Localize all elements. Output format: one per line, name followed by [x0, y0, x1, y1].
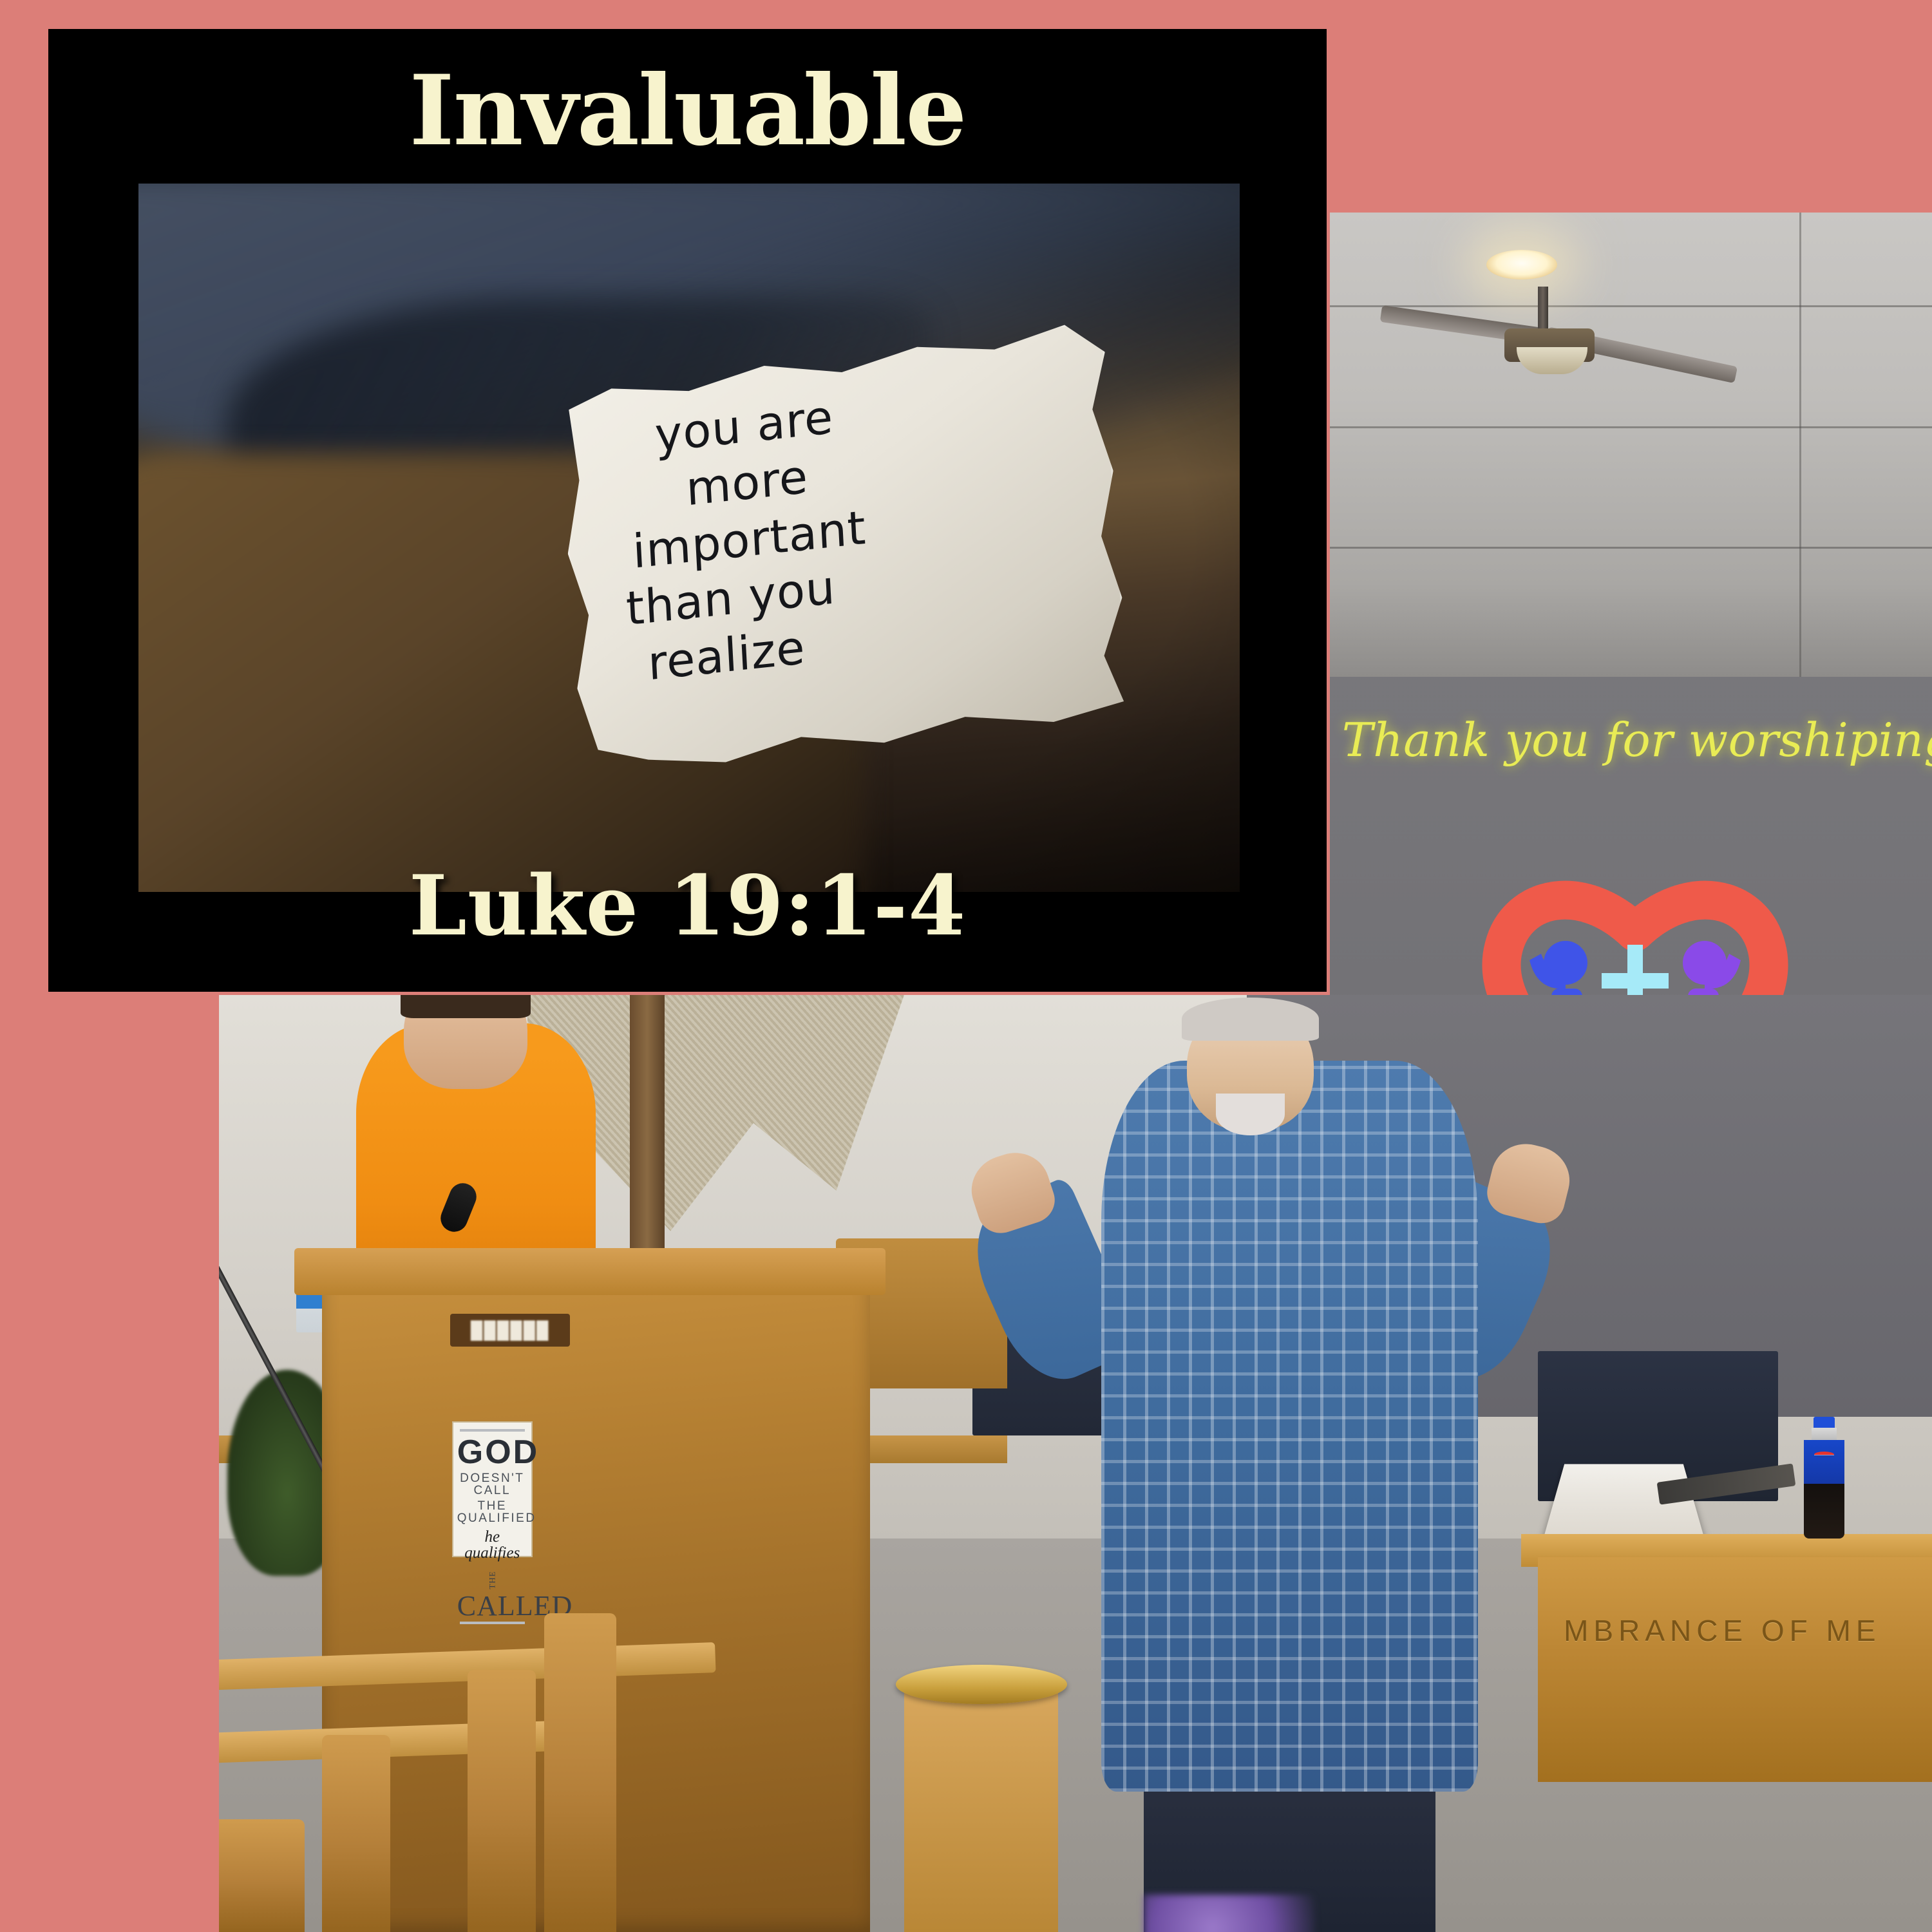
purple-flowers — [1144, 1895, 1315, 1932]
pulpit-sign: GOD DOESN'T CALL THE QUALIFIED he qualif… — [452, 1421, 533, 1557]
recessed-light-icon — [1486, 250, 1557, 279]
scripture-reference: Luke 19:1-4 — [48, 858, 1327, 954]
offering-stool — [904, 1689, 1058, 1932]
man-at-pulpit-hair — [401, 995, 531, 1018]
sign-divider-bottom — [460, 1622, 525, 1624]
preacher-beard — [1216, 1094, 1284, 1135]
pepsi-neck — [1812, 1428, 1836, 1440]
sign-line-he-qualifies: he qualifies — [457, 1529, 527, 1561]
sign-line-god: GOD — [457, 1435, 527, 1469]
torn-paper-note: you are more important than you realize — [556, 320, 1131, 784]
photo-collage: Invaluable you are more important than y… — [0, 0, 1932, 1932]
ceiling-seam — [1330, 305, 1932, 307]
pew-end — [219, 1819, 305, 1932]
sermon-slide: Invaluable you are more important than y… — [48, 29, 1327, 992]
sermon-title: Invaluable — [48, 62, 1327, 159]
pepsi-bottle — [1804, 1417, 1845, 1539]
ceiling — [1330, 213, 1932, 677]
ceiling-fan-light — [1517, 347, 1587, 374]
sign-line-called: THECALLED — [457, 1564, 527, 1620]
sign-line-the: THE — [488, 1571, 497, 1589]
ceiling-seam — [1330, 547, 1932, 549]
open-bible — [1542, 1464, 1704, 1540]
pulpit-plaque-text: ██████ — [471, 1320, 550, 1340]
pepsi-logo-icon — [1814, 1452, 1834, 1458]
pepsi-label — [1804, 1440, 1845, 1484]
pew-end — [468, 1670, 536, 1932]
welcome-message: Thank you for worshiping with — [1342, 713, 1932, 767]
preacher-hair — [1182, 998, 1319, 1041]
ceiling-seam — [1330, 426, 1932, 428]
pepsi-body — [1804, 1484, 1845, 1539]
sanctuary-photo: ██████ GOD DOESN'T CALL THE QUALIFIED he… — [219, 995, 1932, 1932]
preacher-plaid-shirt — [1101, 1061, 1478, 1792]
sign-line-the-qualified: THE QUALIFIED — [457, 1500, 527, 1524]
note-handwriting: you are more important than you realize — [616, 363, 1101, 695]
communion-table — [1538, 1557, 1932, 1782]
sign-divider-top — [460, 1429, 525, 1432]
offering-plate — [896, 1665, 1067, 1704]
sign-line-doesnt-call: DOESN'T CALL — [457, 1472, 527, 1497]
pulpit-top — [294, 1248, 885, 1295]
note-photo: you are more important than you realize — [138, 184, 1240, 892]
pulpit-plaque: ██████ — [450, 1314, 570, 1347]
pew-end — [544, 1613, 616, 1932]
communion-table-inscription: MBRANCE OF ME — [1564, 1613, 1932, 1648]
ceiling-seam — [1799, 213, 1801, 677]
pew-end — [322, 1735, 390, 1932]
